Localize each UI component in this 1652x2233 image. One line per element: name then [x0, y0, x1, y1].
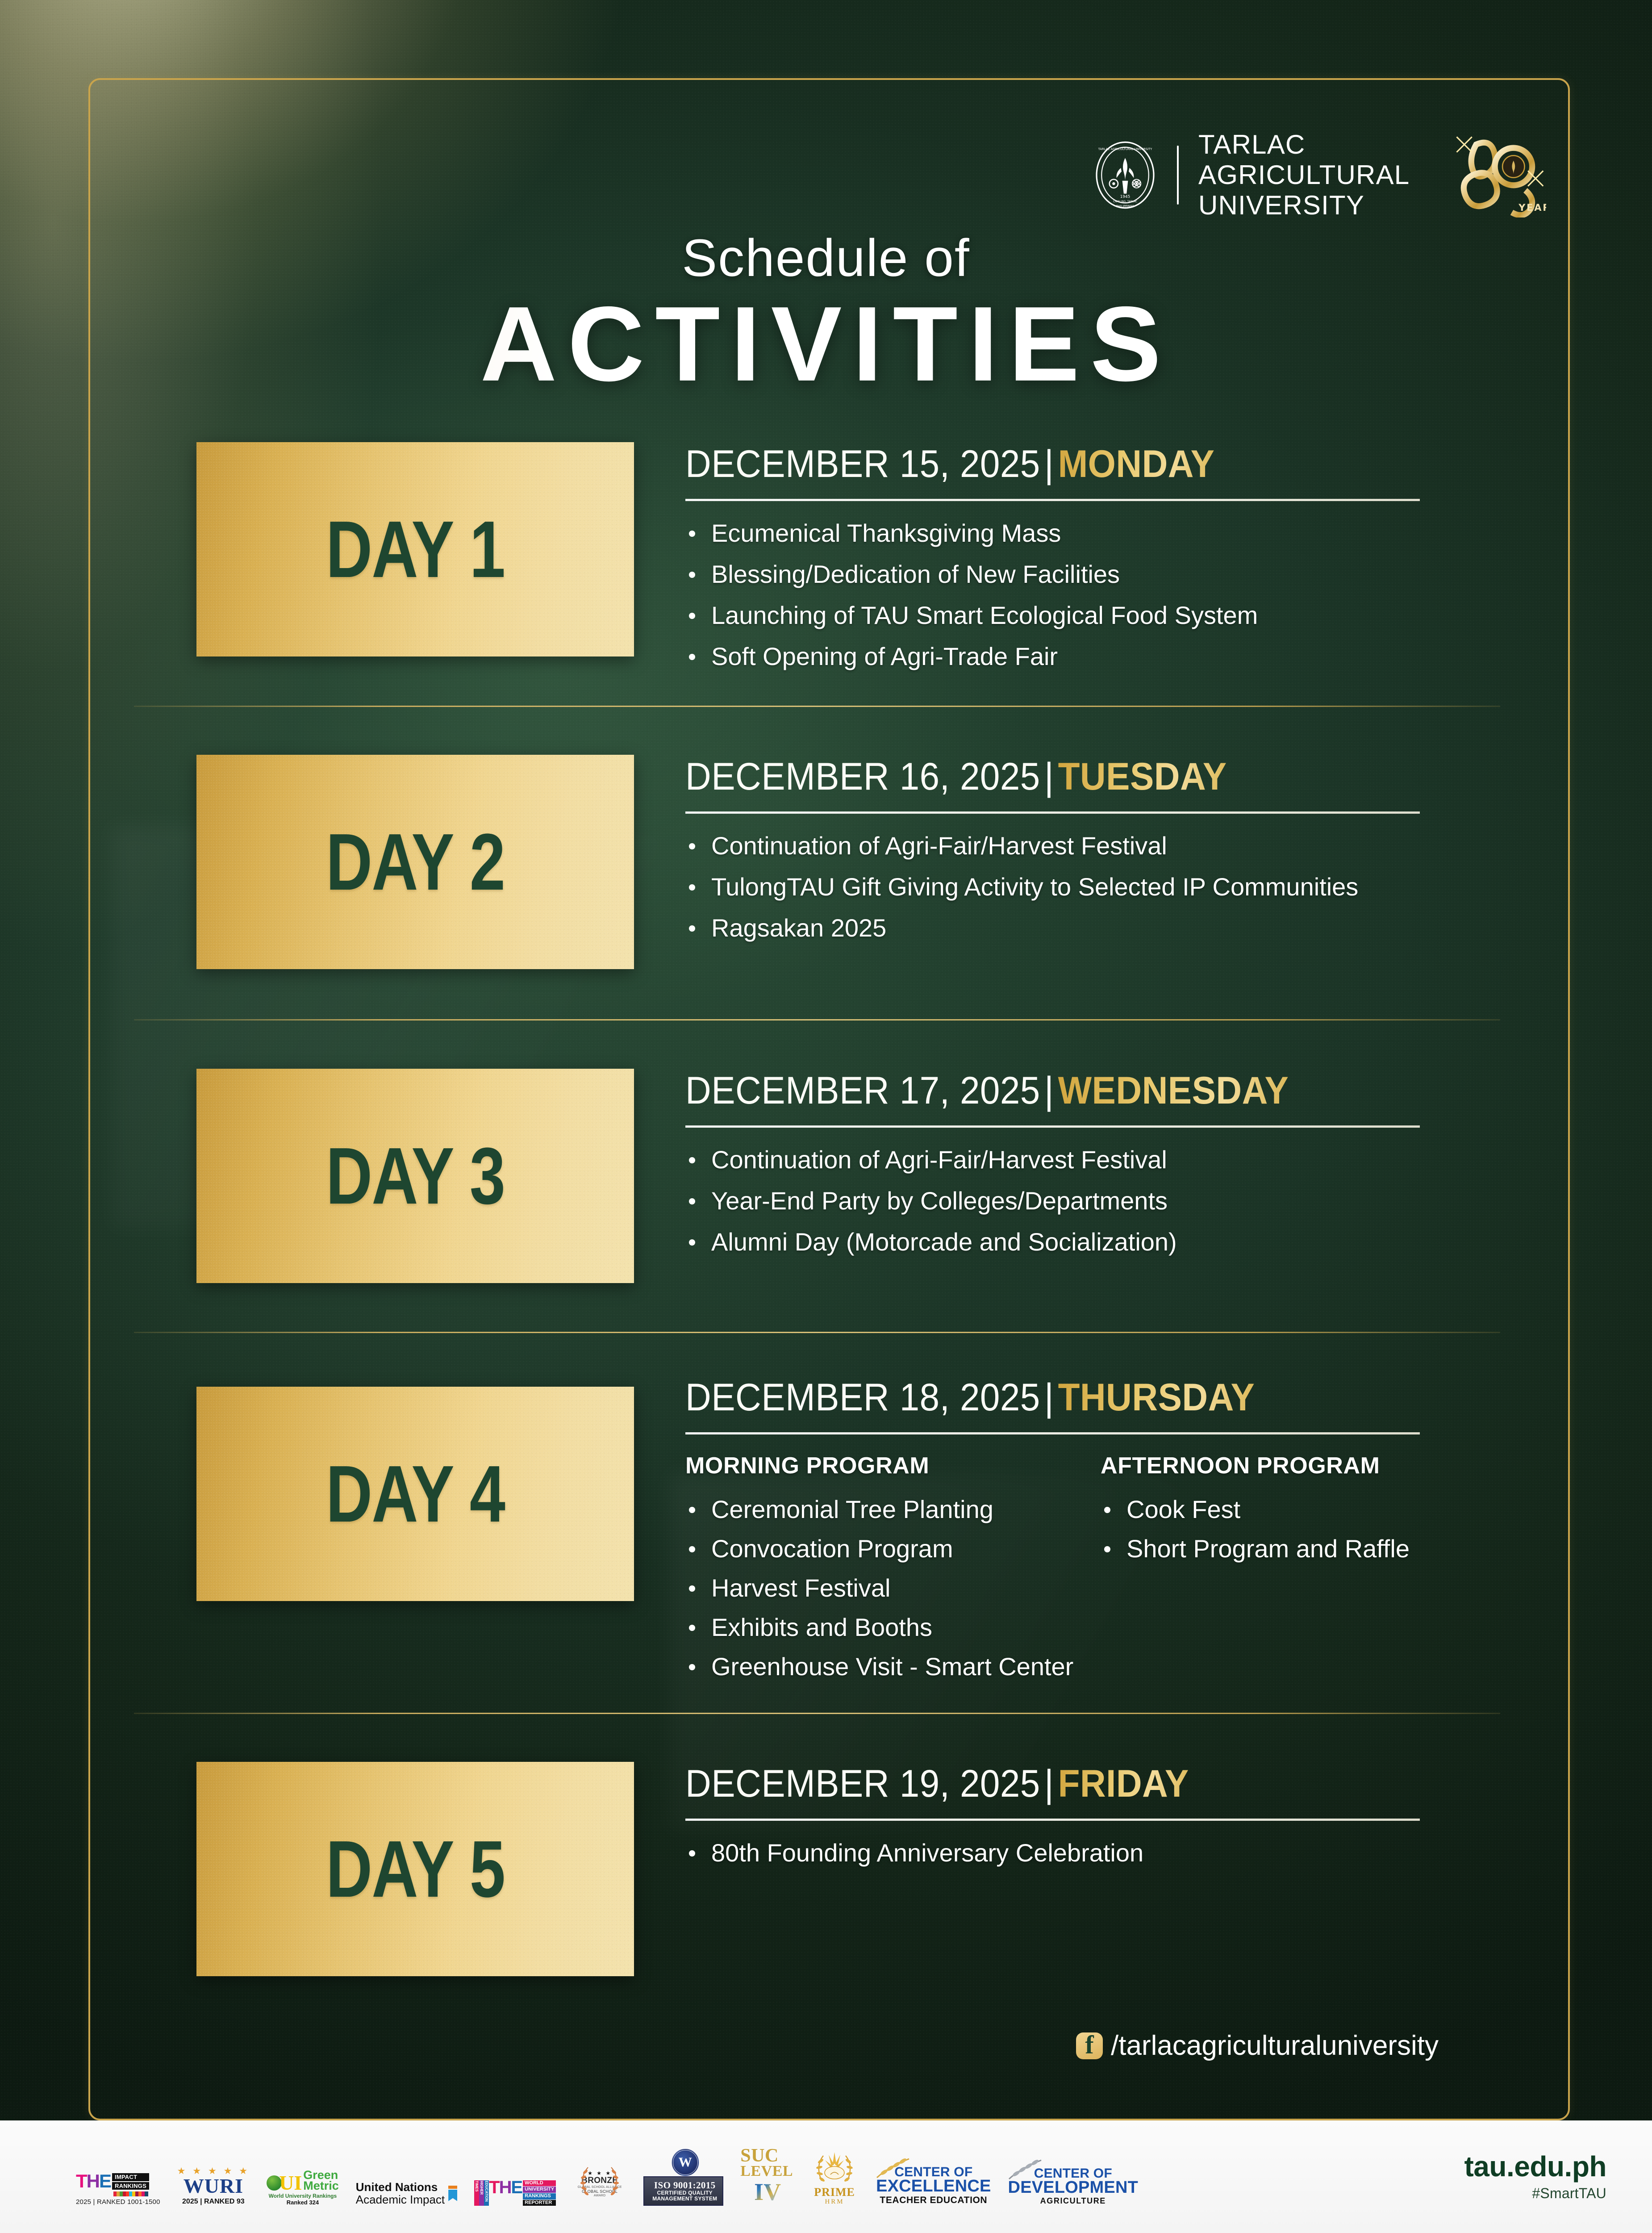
brand-name: TARLAC AGRICULTURAL UNIVERSITY — [1198, 130, 1410, 220]
logo-caption: 2025 | RANKED 93 — [182, 2198, 245, 2206]
logo-level: IV — [754, 2178, 781, 2206]
day-badge: DAY 5 — [196, 1762, 634, 1976]
list-item: Continuation of Agri-Fair/Harvest Festiv… — [685, 833, 1485, 858]
list-item: Soft Opening of Agri-Trade Fair — [685, 644, 1485, 669]
prime-hrm-logo: PRIME HRM — [810, 2149, 859, 2206]
page-title: Schedule of ACTIVITIES — [0, 228, 1652, 399]
list-item: 80th Founding Anniversary Celebration — [685, 1840, 1485, 1865]
center-of-development-logo: CENTER OF DEVELOPMENT AGRICULTURE — [1008, 2159, 1138, 2206]
day-weekday: WEDNESDAY — [1058, 1069, 1289, 1112]
svg-text:CAMILING, TARLAC: CAMILING, TARLAC — [1113, 200, 1137, 203]
day-badge-label: DAY 4 — [326, 1448, 505, 1540]
activity-list: Continuation of Agri-Fair/Harvest Festiv… — [685, 1147, 1485, 1254]
iso-9001-2015-certification-logo: W ISO 9001:2015 CERTIFIED QUALITY MANAGE… — [643, 2149, 723, 2206]
facebook-handle[interactable]: /tarlacagriculturaluniversity — [1111, 2030, 1439, 2062]
day-badge-label: DAY 3 — [326, 1130, 505, 1222]
poster-canvas: 1945 CAMILING, TARLAC PHILIPPINES TARLAC… — [0, 0, 1652, 2233]
laurel-wreath-icon — [573, 2162, 626, 2206]
section-divider — [134, 706, 1500, 707]
day-date: DECEMBER 17, 2025 — [685, 1069, 1040, 1112]
list-item: Exhibits and Booths — [685, 1615, 1101, 1640]
svg-text:1945: 1945 — [1120, 195, 1130, 199]
logo-word: Metric — [303, 2180, 339, 2191]
day-rule — [685, 1819, 1420, 1821]
certification-seal-icon: W — [672, 2149, 699, 2176]
hashtag: #SmartTAU — [1464, 2185, 1606, 2202]
logo-vertical-label: TIMES — [474, 2180, 479, 2206]
university-seal-icon: 1945 CAMILING, TARLAC PHILIPPINES TARLAC… — [1089, 139, 1161, 211]
day-content: DECEMBER 16, 2025|TUESDAY Continuation o… — [685, 755, 1485, 957]
day-date-line: DECEMBER 18, 2025|THURSDAY — [685, 1376, 1429, 1420]
united-nations-academic-impact-logo: United Nations Academic Impact — [356, 2181, 457, 2206]
ui-greenmetric-logo: UI Green Metric World University Ranking… — [267, 2170, 339, 2206]
center-of-excellence-logo: CENTER OF EXCELLENCE TEACHER EDUCATION — [876, 2158, 991, 2206]
list-item: Convocation Program — [685, 1536, 1101, 1561]
list-item: Launching of TAU Smart Ecological Food S… — [685, 603, 1485, 628]
day-rule — [685, 1432, 1420, 1434]
laurel-branch-icon — [1006, 2158, 1044, 2181]
the-world-university-rankings-reporter-logo: TIMES HIGHER EDUCATION THE WORLD UNIVERS… — [474, 2180, 556, 2206]
day-weekday: MONDAY — [1058, 443, 1215, 485]
logo-tag: RANKINGS — [112, 2182, 149, 2190]
day-content: DECEMBER 19, 2025|FRIDAY 80th Founding A… — [685, 1762, 1485, 1882]
suc-level-iv-logo: SUC LEVEL IV — [740, 2148, 793, 2206]
day-date-line: DECEMBER 19, 2025|FRIDAY — [685, 1762, 1429, 1806]
wuri-rankings-logo: ★ ★ ★ ★ ★ WURI 2025 | RANKED 93 — [177, 2166, 250, 2206]
list-item: Ragsakan 2025 — [685, 916, 1485, 941]
logo-tag: IMPACT — [112, 2173, 149, 2181]
list-item: Short Program and Raffle — [1101, 1536, 1410, 1561]
logo-vertical-label: EDUCATION — [484, 2180, 489, 2206]
day-badge-label: DAY 1 — [326, 503, 505, 596]
logo-title: PRIME — [814, 2187, 855, 2198]
brand-header: 1945 CAMILING, TARLAC PHILIPPINES TARLAC… — [1089, 130, 1546, 220]
activity-list: Continuation of Agri-Fair/Harvest Festiv… — [685, 833, 1485, 941]
logo-caption: 2025 | RANKED 1001-1500 — [76, 2198, 160, 2206]
activity-list: 80th Founding Anniversary Celebration — [685, 1840, 1485, 1865]
list-item: Alumni Day (Motorcade and Socialization) — [685, 1229, 1485, 1254]
activity-list: Cook Fest Short Program and Raffle — [1101, 1497, 1410, 1561]
program-columns: MORNING PROGRAM Ceremonial Tree Planting… — [685, 1452, 1485, 1694]
list-item: TulongTAU Gift Giving Activity to Select… — [685, 874, 1485, 899]
day-content: DECEMBER 18, 2025|THURSDAY MORNING PROGR… — [685, 1376, 1485, 1694]
afternoon-program-column: AFTERNOON PROGRAM Cook Fest Short Progra… — [1101, 1452, 1410, 1694]
logo-mark: WURI — [184, 2176, 243, 2196]
activity-list: Ecumenical Thanksgiving Mass Blessing/De… — [685, 521, 1485, 669]
80-years-anniversary-icon: YEARS — [1443, 133, 1546, 217]
logo-vertical-label: HIGHER — [479, 2180, 484, 2206]
bookmark-icon — [448, 2186, 457, 2201]
day-weekday: THURSDAY — [1058, 1376, 1255, 1419]
logo-mark: UI — [279, 2174, 302, 2191]
laurel-branch-icon — [874, 2156, 912, 2179]
day-rule — [685, 811, 1420, 814]
section-divider — [134, 1713, 1500, 1714]
footer-website: tau.edu.ph #SmartTAU — [1464, 2152, 1623, 2202]
day-badge: DAY 2 — [196, 755, 634, 969]
program-heading: AFTERNOON PROGRAM — [1101, 1452, 1410, 1479]
logo-tag: REPORTER — [523, 2200, 556, 2206]
logo-line: Academic Impact — [356, 2193, 445, 2206]
logo-line: ISO 9001:2015 — [652, 2180, 717, 2191]
logo-tag: UNIVERSITY — [523, 2187, 556, 2193]
logo-tag: RANKINGS — [523, 2193, 556, 2200]
bronze-global-school-award-logo: ★ ★ ★ BRONZE GLOBAL SCHOOL ALLIANCE GLOB… — [573, 2162, 626, 2206]
logo-line: LEVEL — [740, 2165, 793, 2179]
logo-tag: WORLD — [523, 2180, 556, 2187]
laurel-burst-icon — [810, 2149, 859, 2188]
logo-caption: Ranked 324 — [287, 2199, 319, 2206]
day-date-line: DECEMBER 15, 2025|MONDAY — [685, 442, 1429, 486]
day-date: DECEMBER 16, 2025 — [685, 755, 1040, 798]
date-separator: | — [1040, 1762, 1058, 1805]
title-main: ACTIVITIES — [0, 290, 1652, 399]
title-eyebrow: Schedule of — [0, 228, 1652, 289]
day-weekday: TUESDAY — [1058, 755, 1227, 798]
brand-divider — [1177, 146, 1179, 205]
the-impact-rankings-logo: THE IMPACT RANKINGS 2025 | RANKED 1001-1… — [76, 2173, 160, 2206]
program-heading: MORNING PROGRAM — [685, 1452, 1101, 1479]
logo-line: United Nations — [356, 2181, 445, 2193]
day-rule — [685, 1125, 1420, 1128]
day-date-line: DECEMBER 17, 2025|WEDNESDAY — [685, 1069, 1429, 1113]
list-item: Greenhouse Visit - Smart Center — [685, 1654, 1101, 1679]
day-badge: DAY 3 — [196, 1069, 634, 1283]
date-separator: | — [1040, 443, 1058, 485]
day-date-line: DECEMBER 16, 2025|TUESDAY — [685, 755, 1429, 799]
date-separator: | — [1040, 1376, 1058, 1419]
sdg-color-strip — [113, 2191, 148, 2196]
svg-text:TARLAC AGRICULTURAL UNIVERSITY: TARLAC AGRICULTURAL UNIVERSITY — [1098, 147, 1152, 151]
logo-caption: World University Rankings — [269, 2193, 337, 2199]
day-content: DECEMBER 15, 2025|MONDAY Ecumenical Than… — [685, 442, 1485, 685]
svg-text:YEARS: YEARS — [1519, 202, 1547, 213]
section-divider — [134, 1332, 1500, 1333]
logo-line: DEVELOPMENT — [1008, 2180, 1138, 2195]
accreditation-logos: THE IMPACT RANKINGS 2025 | RANKED 1001-1… — [76, 2148, 1138, 2206]
list-item: Continuation of Agri-Fair/Harvest Festiv… — [685, 1147, 1485, 1172]
logo-line: MANAGEMENT SYSTEM — [652, 2196, 717, 2202]
day-date: DECEMBER 19, 2025 — [685, 1762, 1040, 1805]
day-date: DECEMBER 18, 2025 — [685, 1376, 1040, 1419]
facebook-icon[interactable] — [1076, 2032, 1103, 2059]
day-date: DECEMBER 15, 2025 — [685, 443, 1040, 485]
website-url[interactable]: tau.edu.ph — [1464, 2152, 1606, 2181]
facebook-link[interactable]: /tarlacagriculturaluniversity — [1076, 2030, 1439, 2062]
logo-caption: TEACHER EDUCATION — [880, 2195, 987, 2206]
svg-text:PHILIPPINES: PHILIPPINES — [1116, 205, 1134, 208]
date-separator: | — [1040, 1069, 1058, 1112]
day-badge: DAY 4 — [196, 1387, 634, 1601]
day-weekday: FRIDAY — [1058, 1762, 1189, 1805]
list-item: Cook Fest — [1101, 1497, 1410, 1522]
morning-program-column: MORNING PROGRAM Ceremonial Tree Planting… — [685, 1452, 1101, 1694]
list-item: Blessing/Dedication of New Facilities — [685, 562, 1485, 587]
logo-subtitle: HRM — [825, 2198, 844, 2206]
list-item: Year-End Party by Colleges/Departments — [685, 1188, 1485, 1213]
day-badge-label: DAY 2 — [326, 816, 505, 908]
list-item: Ceremonial Tree Planting — [685, 1497, 1101, 1522]
day-rule — [685, 499, 1420, 501]
section-divider — [134, 1019, 1500, 1020]
date-separator: | — [1040, 755, 1058, 798]
day-content: DECEMBER 17, 2025|WEDNESDAY Continuation… — [685, 1069, 1485, 1271]
day-badge-label: DAY 5 — [326, 1823, 505, 1915]
logo-caption: AGRICULTURE — [1040, 2196, 1106, 2206]
day-badge: DAY 1 — [196, 442, 634, 657]
footer-bar: THE IMPACT RANKINGS 2025 | RANKED 1001-1… — [0, 2120, 1652, 2233]
logo-line: SUC — [740, 2148, 793, 2165]
list-item: Harvest Festival — [685, 1576, 1101, 1601]
activity-list: Ceremonial Tree Planting Convocation Pro… — [685, 1497, 1101, 1679]
list-item: Ecumenical Thanksgiving Mass — [685, 521, 1485, 546]
logo-line: EXCELLENCE — [876, 2179, 991, 2194]
